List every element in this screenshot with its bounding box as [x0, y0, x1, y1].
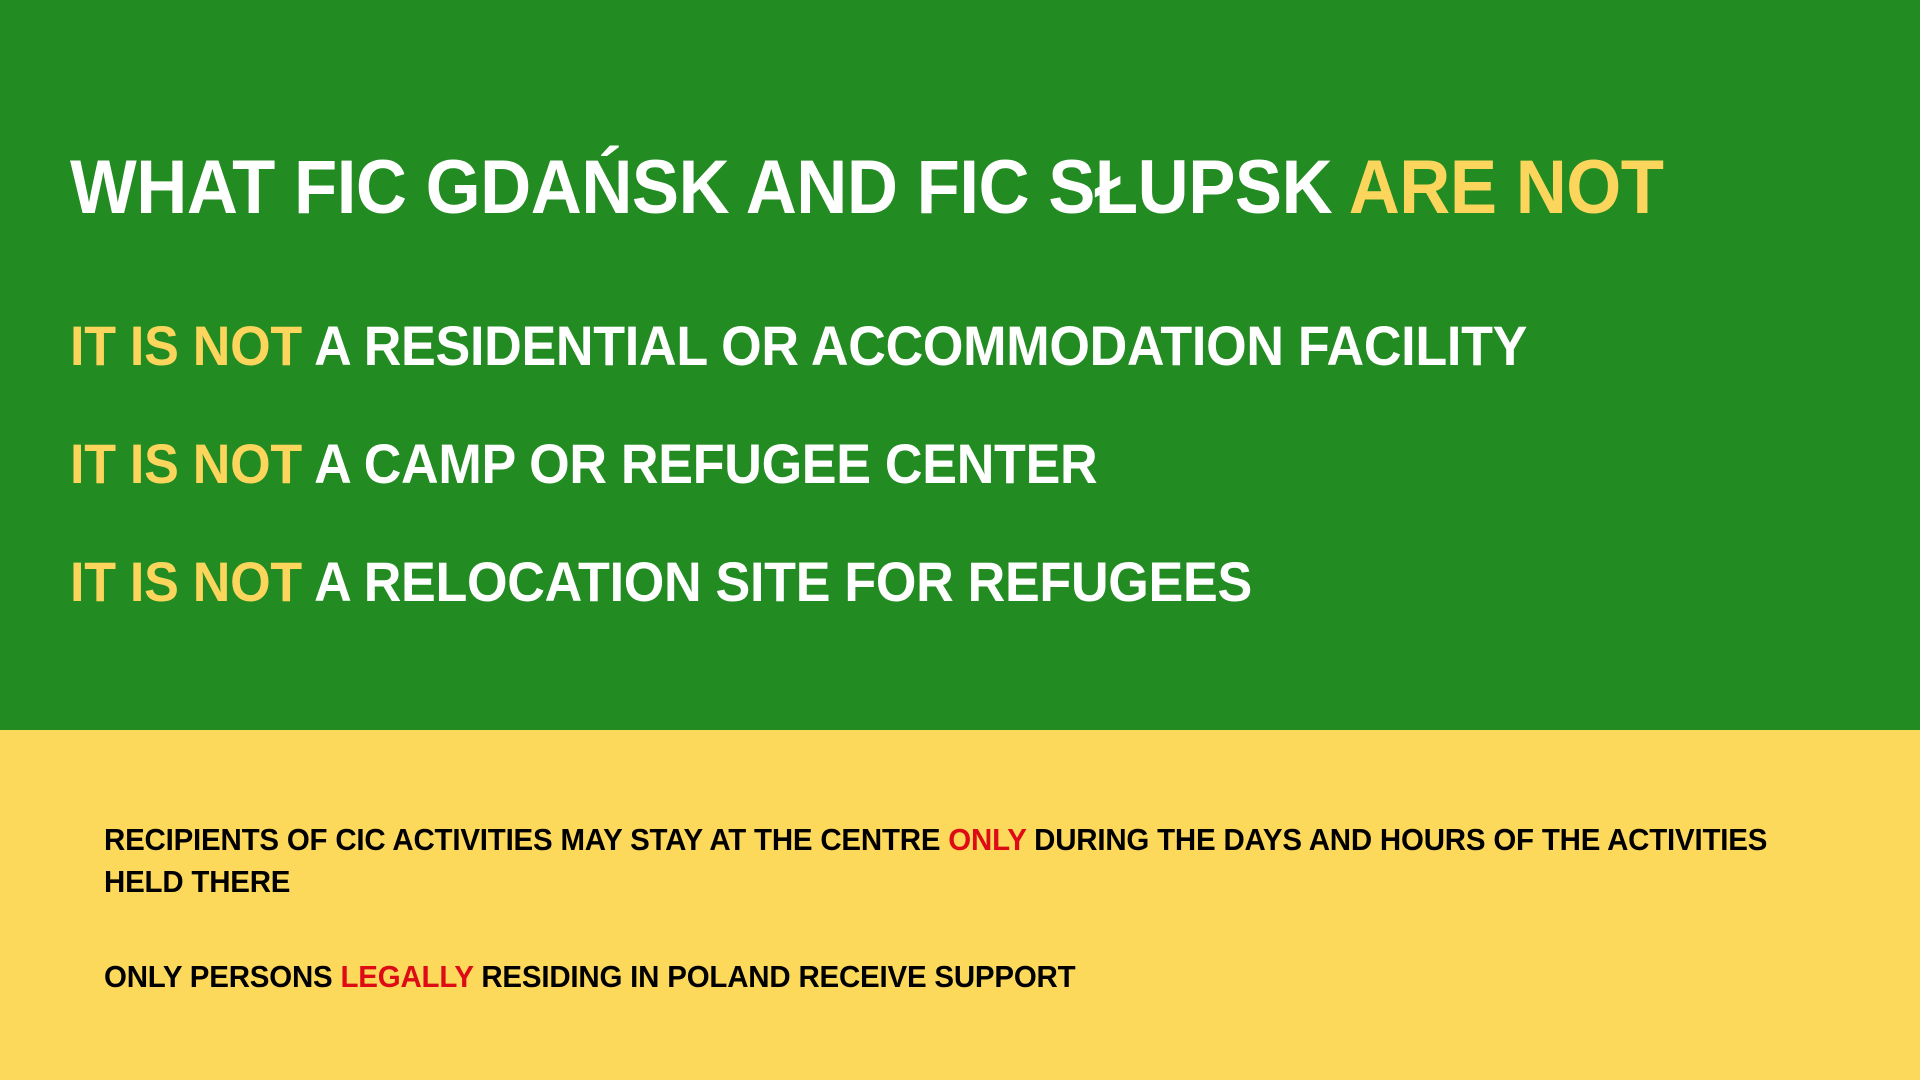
- yellow-section: RECIPIENTS OF CIC ACTIVITIES MAY STAY AT…: [0, 730, 1920, 1080]
- notice-list: RECIPIENTS OF CIC ACTIVITIES MAY STAY AT…: [104, 788, 1860, 1029]
- notice-item-1: RECIPIENTS OF CIC ACTIVITIES MAY STAY AT…: [104, 819, 1772, 902]
- not-list-item-1-prefix: IT IS NOT: [70, 314, 314, 377]
- green-section: WHAT FIC GDAŃSK AND FIC SŁUPSK ARE NOT I…: [0, 0, 1920, 730]
- not-list-item-1: IT IS NOT A RESIDENTIAL OR ACCOMMODATION…: [70, 318, 1763, 374]
- page-title-main: WHAT FIC GDAŃSK AND FIC SŁUPSK: [70, 145, 1349, 230]
- not-list: IT IS NOT A RESIDENTIAL OR ACCOMMODATION…: [70, 262, 1890, 610]
- not-list-item-3-text: A RELOCATION SITE FOR REFUGEES: [314, 550, 1252, 613]
- not-list-item-3: IT IS NOT A RELOCATION SITE FOR REFUGEES: [70, 554, 1763, 610]
- notice-item-1-highlight: ONLY: [948, 822, 1026, 857]
- notice-item-2-part2: RESIDING IN POLAND RECEIVE SUPPORT: [473, 959, 1075, 994]
- poster-root: WHAT FIC GDAŃSK AND FIC SŁUPSK ARE NOT I…: [0, 0, 1920, 1080]
- notice-item-2: ONLY PERSONS LEGALLY RESIDING IN POLAND …: [104, 956, 1772, 998]
- not-list-item-2: IT IS NOT A CAMP OR REFUGEE CENTER: [70, 436, 1763, 492]
- notice-item-2-highlight: LEGALLY: [340, 959, 473, 994]
- not-list-item-2-prefix: IT IS NOT: [70, 432, 314, 495]
- not-list-item-2-text: A CAMP OR REFUGEE CENTER: [314, 432, 1097, 495]
- page-title-accent: ARE NOT: [1349, 145, 1664, 230]
- not-list-item-1-text: A RESIDENTIAL OR ACCOMMODATION FACILITY: [314, 314, 1527, 377]
- notice-item-2-part1: ONLY PERSONS: [104, 959, 340, 994]
- notice-item-1-part1: RECIPIENTS OF CIC ACTIVITIES MAY STAY AT…: [104, 822, 948, 857]
- not-list-item-3-prefix: IT IS NOT: [70, 550, 314, 613]
- page-title: WHAT FIC GDAŃSK AND FIC SŁUPSK ARE NOT: [70, 151, 1753, 225]
